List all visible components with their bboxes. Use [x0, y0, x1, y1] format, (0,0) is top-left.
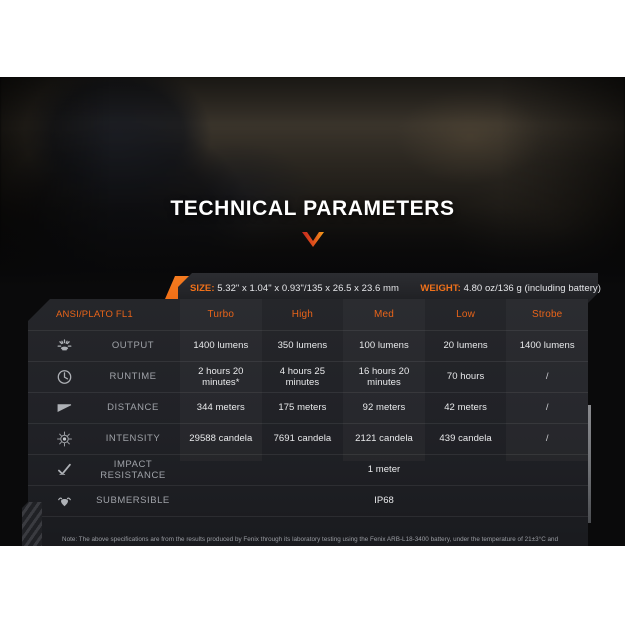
table-row: SUBMERSIBLE IP68 [28, 485, 588, 516]
cell-runtime-strobe: / [506, 361, 588, 392]
cell-intensity-high: 7691 candela [262, 423, 344, 454]
spec-strip-text: SIZE: 5.32" x 1.04" x 0.93"/135 x 26.5 x… [190, 283, 601, 294]
page-title: TECHNICAL PARAMETERS [0, 197, 625, 221]
weight-value: 4.80 oz/136 g (including battery) [464, 283, 601, 294]
chevron-down-icon [302, 232, 324, 247]
table-row: IMPACT RESISTANCE 1 meter [28, 454, 588, 485]
weight-label: WEIGHT: [420, 283, 460, 294]
cell-distance-turbo: 344 meters [180, 392, 262, 423]
header-strobe: Strobe [506, 299, 588, 330]
footnotes: Note: The above specifications are from … [62, 535, 562, 546]
content-band: TECHNICAL PARAMETERS SIZE: 5.32" x 1.04"… [0, 77, 625, 546]
cell-intensity-turbo: 29588 candela [180, 423, 262, 454]
table-header-row: ANSI/PLATO FL1 Turbo High Med Low Strobe [28, 299, 588, 330]
row-label-submersible: SUBMERSIBLE [28, 485, 180, 516]
size-label: SIZE: [190, 283, 215, 294]
row-label-text: IMPACT RESISTANCE [86, 459, 180, 481]
header-turbo: Turbo [180, 299, 262, 330]
panel-left-hatch-decoration [22, 502, 42, 546]
cell-distance-high: 175 meters [262, 392, 344, 423]
table-row: INTENSITY 29588 candela 7691 candela 212… [28, 423, 588, 454]
specifications-table: ANSI/PLATO FL1 Turbo High Med Low Strobe [28, 299, 588, 517]
header-ansi-plato: ANSI/PLATO FL1 [28, 299, 180, 330]
light-burst-icon [56, 337, 73, 354]
header-med: Med [343, 299, 425, 330]
row-label-text: INTENSITY [106, 433, 161, 444]
cell-runtime-low: 70 hours [425, 361, 507, 392]
cell-output-high: 350 lumens [262, 330, 344, 361]
row-label-text: OUTPUT [112, 340, 154, 351]
table-row: RUNTIME 2 hours 20 minutes* 4 hours 25 m… [28, 361, 588, 392]
specifications-panel: ANSI/PLATO FL1 Turbo High Med Low Strobe [28, 299, 588, 546]
row-label-text: SUBMERSIBLE [96, 495, 170, 506]
cell-output-strobe: 1400 lumens [506, 330, 588, 361]
cell-distance-med: 92 meters [343, 392, 425, 423]
cell-runtime-turbo: 2 hours 20 minutes* [180, 361, 262, 392]
row-label-output: OUTPUT [28, 330, 180, 361]
row-label-text: RUNTIME [109, 371, 156, 382]
cell-output-med: 100 lumens [343, 330, 425, 361]
water-drops-icon [56, 492, 73, 509]
footnote-general: Note: The above specifications are from … [62, 535, 562, 546]
table-body: OUTPUT 1400 lumens 350 lumens 100 lumens… [28, 330, 588, 516]
cell-intensity-strobe: / [506, 423, 588, 454]
cell-distance-strobe: / [506, 392, 588, 423]
panel-right-accent-bar [588, 405, 591, 523]
table-row: DISTANCE 344 meters 175 meters 92 meters… [28, 392, 588, 423]
header-high: High [262, 299, 344, 330]
row-label-runtime: RUNTIME [28, 361, 180, 392]
size-value: 5.32" x 1.04" x 0.93"/135 x 26.5 x 23.6 … [217, 283, 399, 294]
cell-intensity-low: 439 candela [425, 423, 507, 454]
row-label-distance: DISTANCE [28, 392, 180, 423]
checkmark-impact-icon [56, 461, 73, 478]
clock-icon [56, 368, 73, 385]
cell-intensity-med: 2121 candela [343, 423, 425, 454]
cell-impact-resistance-value: 1 meter [180, 454, 588, 485]
cell-runtime-med: 16 hours 20 minutes [343, 361, 425, 392]
crosshair-intensity-icon [56, 430, 73, 447]
row-label-text: DISTANCE [107, 402, 159, 413]
cell-output-turbo: 1400 lumens [180, 330, 262, 361]
cell-runtime-high: 4 hours 25 minutes [262, 361, 344, 392]
hero-vignette-overlay [0, 77, 625, 287]
cell-distance-low: 42 meters [425, 392, 507, 423]
table-row: OUTPUT 1400 lumens 350 lumens 100 lumens… [28, 330, 588, 361]
header-low: Low [425, 299, 507, 330]
beam-distance-icon [56, 399, 73, 416]
cell-output-low: 20 lumens [425, 330, 507, 361]
table-header: ANSI/PLATO FL1 Turbo High Med Low Strobe [28, 299, 588, 330]
row-label-intensity: INTENSITY [28, 423, 180, 454]
row-label-impact-resistance: IMPACT RESISTANCE [28, 454, 180, 485]
screenshot-root: TECHNICAL PARAMETERS SIZE: 5.32" x 1.04"… [0, 0, 625, 625]
cell-submersible-value: IP68 [180, 485, 588, 516]
